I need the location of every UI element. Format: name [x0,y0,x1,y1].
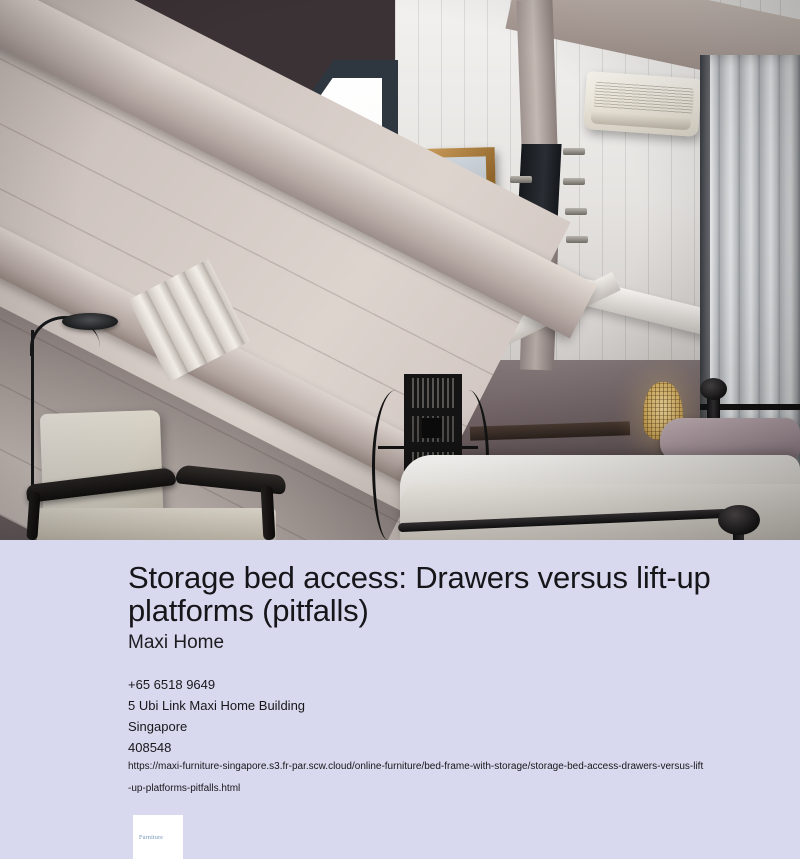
contact-phone[interactable]: +65 6518 9649 [128,674,728,695]
air-conditioner [583,71,702,137]
page-title: Storage bed access: Drawers versus lift-… [128,561,748,628]
contact-address-line1: 5 Ubi Link Maxi Home Building [128,695,728,716]
contact-postal-code: 408548 [128,737,728,758]
bed-pillow [660,418,800,460]
ac-grille [594,82,695,115]
page-root: Storage bed access: Drawers versus lift-… [0,0,800,840]
armchair-seat [36,508,276,540]
post-bolt [563,178,585,185]
contact-country: Singapore [128,716,728,737]
screen-center-box [422,418,442,438]
contact-block: +65 6518 9649 5 Ubi Link Maxi Home Build… [128,674,728,758]
furniture-card-label: Furniture [139,835,179,841]
bed-corner-knob [718,505,760,535]
floor-lamp-head [62,313,118,330]
furniture-card[interactable]: Furniture [133,815,183,859]
bed-post-finial [700,378,727,400]
screen-slat [409,378,457,408]
page-url[interactable]: https://maxi-furniture-singapore.s3.fr-p… [128,756,706,800]
post-bolt [563,148,585,155]
info-panel: Storage bed access: Drawers versus lift-… [0,540,800,840]
post-bolt [510,176,532,183]
hero-photo [0,0,800,540]
post-bolt [565,208,587,215]
ac-vent [591,111,692,130]
support-post-top [516,0,557,149]
post-bolt [566,236,588,243]
company-name: Maxi Home [128,632,224,654]
